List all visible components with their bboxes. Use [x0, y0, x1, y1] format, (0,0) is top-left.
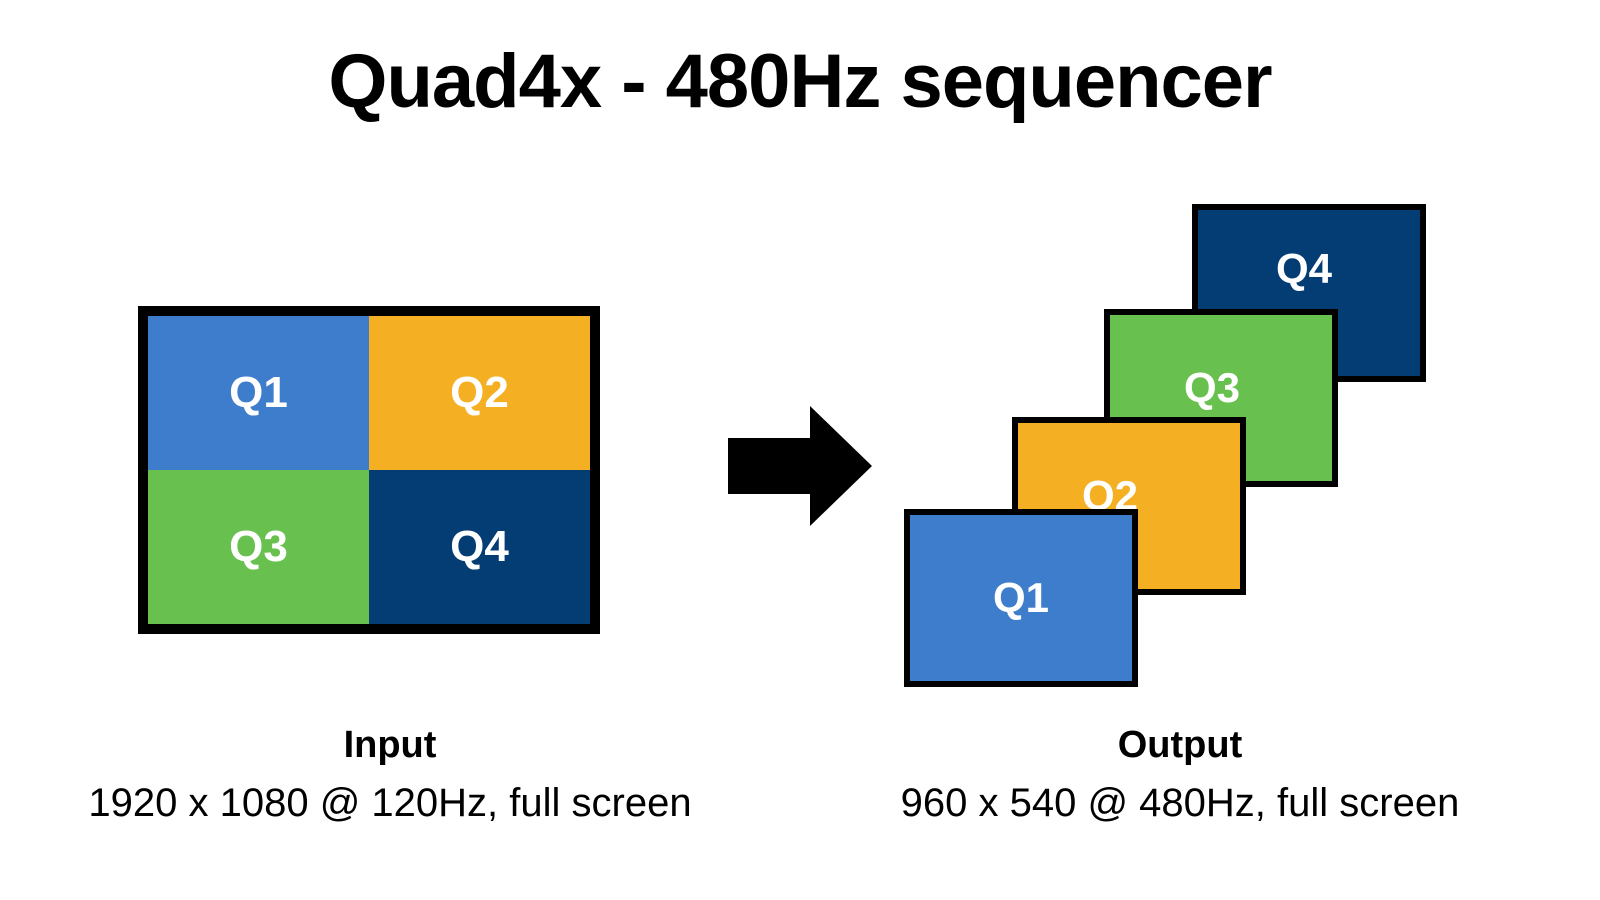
output-frame-q1-label: Q1: [993, 577, 1049, 619]
input-caption-subtitle: 1920 x 1080 @ 120Hz, full screen: [30, 780, 750, 826]
input-quadrant-q3-label: Q3: [229, 525, 288, 569]
input-quadrant-q2-label: Q2: [450, 371, 509, 415]
output-caption-subtitle: 960 x 540 @ 480Hz, full screen: [820, 780, 1540, 826]
output-caption: Output 960 x 540 @ 480Hz, full screen: [820, 724, 1540, 826]
page-title: Quad4x - 480Hz sequencer: [0, 44, 1600, 120]
input-quadrant-q4-label: Q4: [450, 525, 509, 569]
output-frame-q1: Q1: [904, 509, 1138, 687]
input-quadrant-grid: Q1 Q2 Q3 Q4: [138, 306, 600, 634]
input-quadrant-q4: Q4: [369, 470, 590, 624]
output-frame-q3-label: Q3: [1184, 367, 1240, 409]
output-frame-q4-label: Q4: [1276, 248, 1332, 290]
input-caption-title: Input: [30, 724, 750, 768]
input-quadrant-q2: Q2: [369, 316, 590, 470]
input-diagram: Q1 Q2 Q3 Q4: [138, 306, 600, 634]
input-quadrant-q3: Q3: [148, 470, 369, 624]
input-quadrant-q1: Q1: [148, 316, 369, 470]
input-caption: Input 1920 x 1080 @ 120Hz, full screen: [30, 724, 750, 826]
right-arrow-icon: [728, 406, 872, 526]
output-diagram: Q1 Q2 Q3 Q4: [900, 196, 1420, 696]
input-quadrant-q1-label: Q1: [229, 371, 288, 415]
output-caption-title: Output: [820, 724, 1540, 768]
